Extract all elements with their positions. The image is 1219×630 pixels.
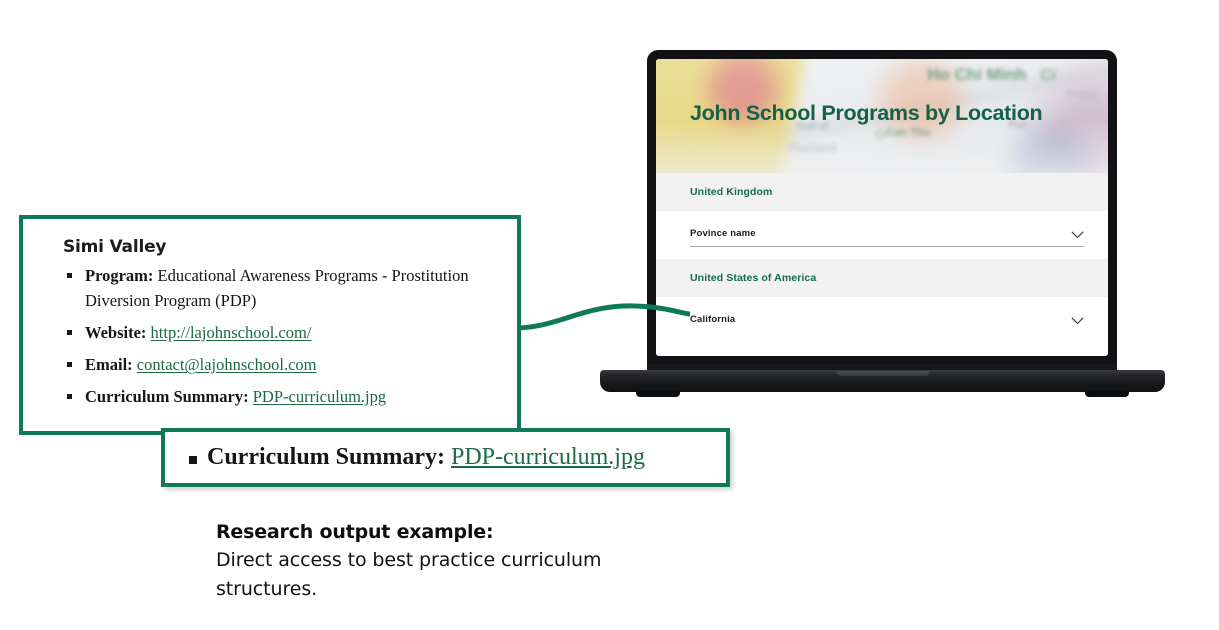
city-detail-callout: Simi Valley Program: Educational Awarene…	[19, 215, 521, 435]
fact-label-email: Email:	[85, 355, 133, 374]
screen-bottom-spacer	[656, 345, 1108, 356]
curriculum-summary-link[interactable]: PDP-curriculum.jpg	[253, 387, 386, 406]
province-select-uk[interactable]: Povince name	[690, 228, 1084, 247]
list-item: Website: http://lajohnschool.com/	[63, 320, 497, 345]
laptop-base	[600, 368, 1165, 398]
fact-label-website: Website:	[85, 323, 146, 342]
chevron-down-icon[interactable]	[1071, 231, 1084, 239]
callout-content: Simi Valley Program: Educational Awarene…	[23, 219, 517, 409]
magnified-label: Curriculum Summary:	[207, 444, 445, 470]
province-select-label-usa: California	[690, 314, 735, 325]
province-select-row-usa: California	[656, 297, 1108, 345]
fact-label-program: Program:	[85, 266, 153, 285]
magnified-list-item: Curriculum Summary: PDP-curriculum.jpg	[165, 444, 645, 471]
page-title: John School Programs by Location	[690, 101, 1042, 126]
city-facts-list: Program: Educational Awareness Programs …	[63, 263, 497, 409]
chevron-down-icon[interactable]	[1071, 317, 1084, 325]
laptop-screen: Ho Chi Minh Ci Can Tho Gulf of Thailand …	[656, 59, 1108, 356]
laptop-foot-left	[636, 391, 680, 397]
app-hero-banner: Ho Chi Minh Ci Can Tho Gulf of Thailand …	[656, 59, 1108, 173]
city-name-heading: Simi Valley	[63, 237, 497, 257]
list-item: Email: contact@lajohnschool.com	[63, 352, 497, 377]
caption-heading: Research output example:	[216, 518, 686, 546]
country-header-united-states: United States of America	[656, 259, 1108, 297]
slide-canvas: Ho Chi Minh Ci Can Tho Gulf of Thailand …	[0, 0, 1219, 630]
list-item: Program: Educational Awareness Programs …	[63, 263, 497, 313]
laptop-base-notch	[837, 371, 929, 376]
caption-block: Research output example: Direct access t…	[216, 518, 686, 604]
province-select-usa[interactable]: California	[690, 314, 1084, 333]
email-link[interactable]: contact@lajohnschool.com	[137, 355, 317, 374]
caption-body: Direct access to best practice curriculu…	[216, 546, 686, 604]
country-header-united-kingdom: United Kingdom	[656, 173, 1108, 211]
magnified-curriculum-callout: Curriculum Summary: PDP-curriculum.jpg	[161, 428, 730, 487]
callout-connector-line	[505, 300, 690, 360]
laptop-lid: Ho Chi Minh Ci Can Tho Gulf of Thailand …	[647, 50, 1117, 370]
province-select-label-uk: Povince name	[690, 228, 756, 239]
list-item: Curriculum Summary: PDP-curriculum.jpg	[63, 384, 497, 409]
website-link[interactable]: http://lajohnschool.com/	[151, 323, 312, 342]
laptop-foot-right	[1085, 391, 1129, 397]
magnified-curriculum-link[interactable]: PDP-curriculum.jpg	[451, 444, 645, 470]
fact-label-curriculum-summary: Curriculum Summary:	[85, 387, 249, 406]
province-select-row-uk: Povince name	[656, 211, 1108, 259]
